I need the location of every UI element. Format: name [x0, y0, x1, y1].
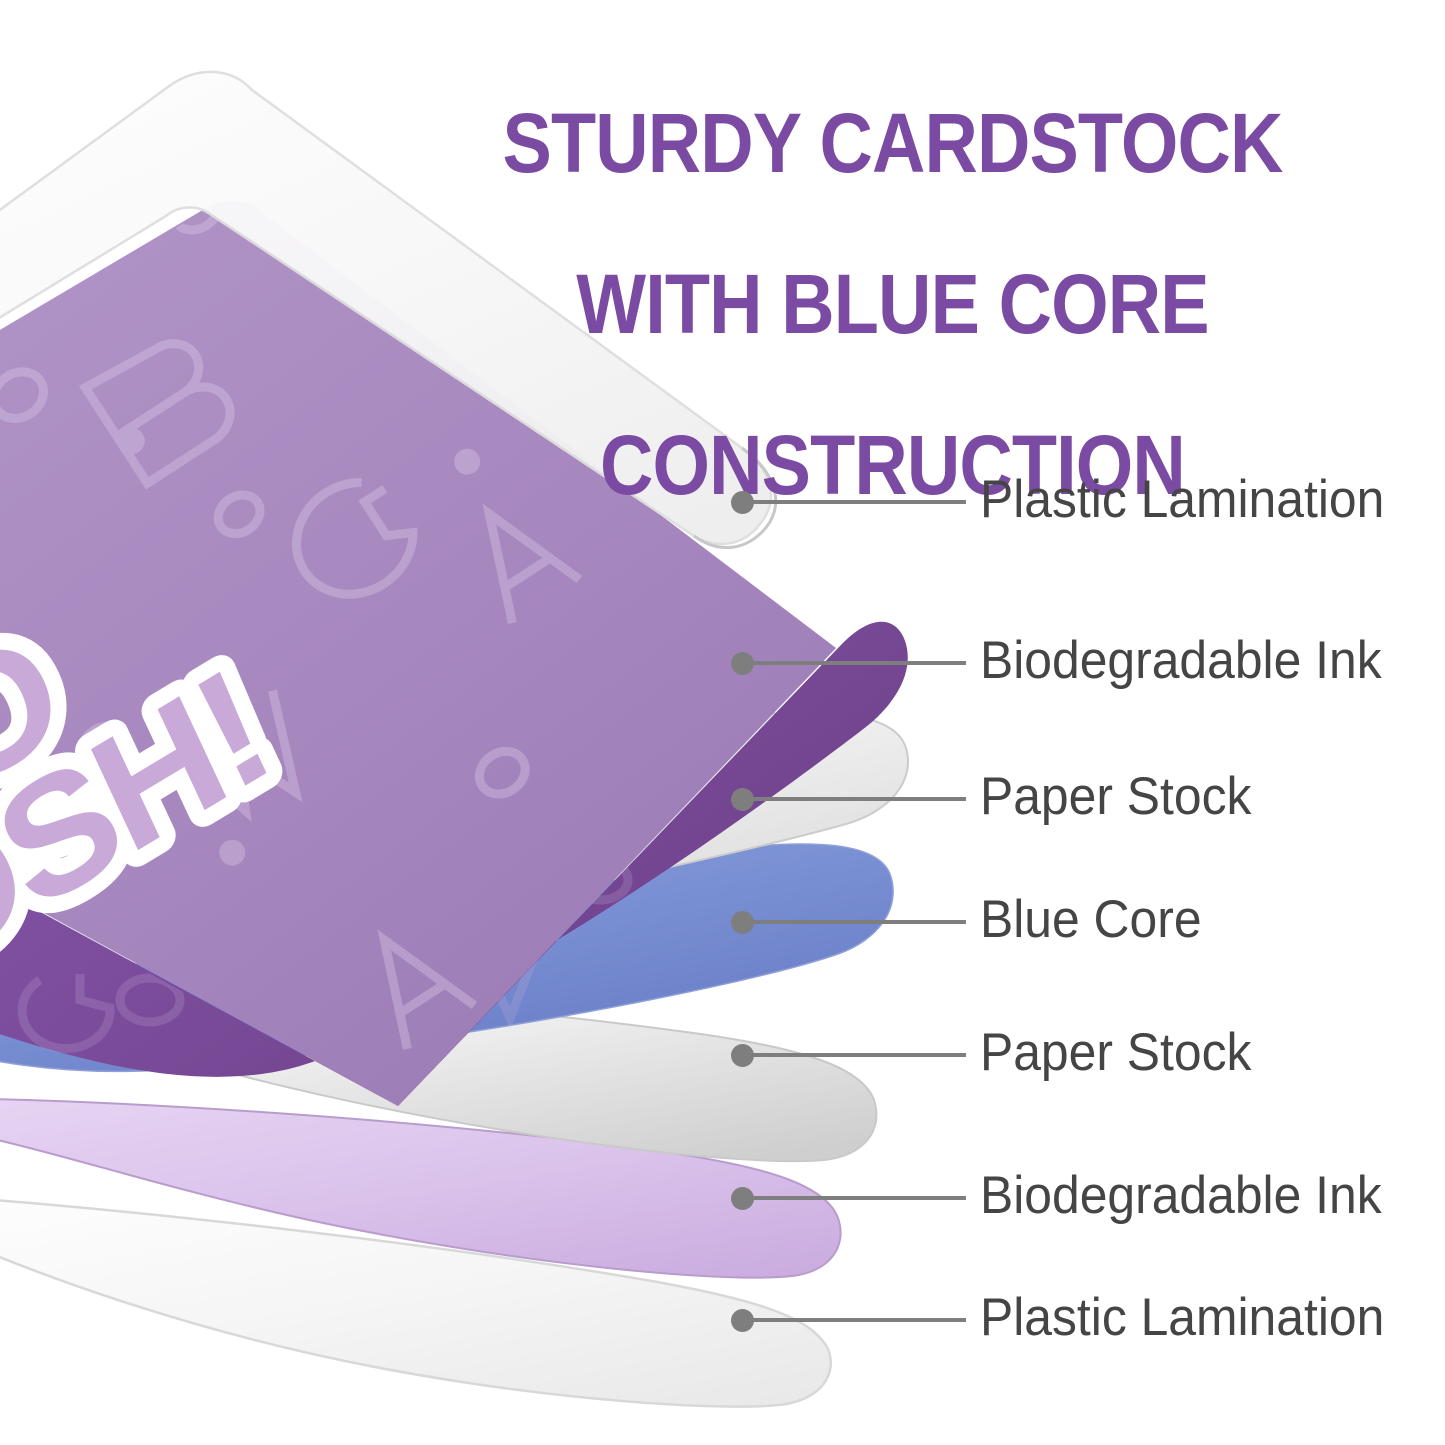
callout-leader-line	[742, 500, 966, 504]
title-line-2: WITH BLUE CORE	[424, 264, 1361, 345]
infographic-canvas: GO GOSH! STURDY CARDSTOCK WITH BLUE CORE…	[0, 0, 1445, 1445]
callout-label: Blue Core	[980, 893, 1202, 946]
layer-paper-stock-bottom	[0, 980, 876, 1161]
callout-label: Plastic Lamination	[980, 473, 1384, 526]
callout-leader-line	[742, 797, 966, 801]
callout-label: Biodegradable Ink	[980, 1169, 1382, 1222]
callout-leader-line	[742, 1053, 966, 1057]
callout-leader-line	[742, 1318, 966, 1322]
callout-leader-line	[742, 661, 966, 665]
svg-text:GOSH!: GOSH!	[0, 634, 291, 1078]
callout-label: Plastic Lamination	[980, 1291, 1384, 1344]
callout-label: Paper Stock	[980, 770, 1251, 823]
title-line-1: STURDY CARDSTOCK	[424, 103, 1361, 184]
callout-label: Paper Stock	[980, 1026, 1251, 1079]
layer-plastic-lamination-bottom	[0, 1196, 831, 1407]
layer-paper-stock-top	[0, 713, 908, 965]
svg-text:GO: GO	[0, 598, 83, 897]
callout-leader-line	[742, 920, 966, 924]
card-headline-go-gosh: GO GOSH!	[0, 508, 291, 1078]
layer-biodegradable-ink-bottom	[0, 1098, 841, 1278]
callout-leader-line	[742, 1196, 966, 1200]
callout-label: Biodegradable Ink	[980, 634, 1382, 687]
layer-biodegradable-ink-top	[0, 622, 908, 1106]
layer-blue-core	[0, 844, 893, 1071]
